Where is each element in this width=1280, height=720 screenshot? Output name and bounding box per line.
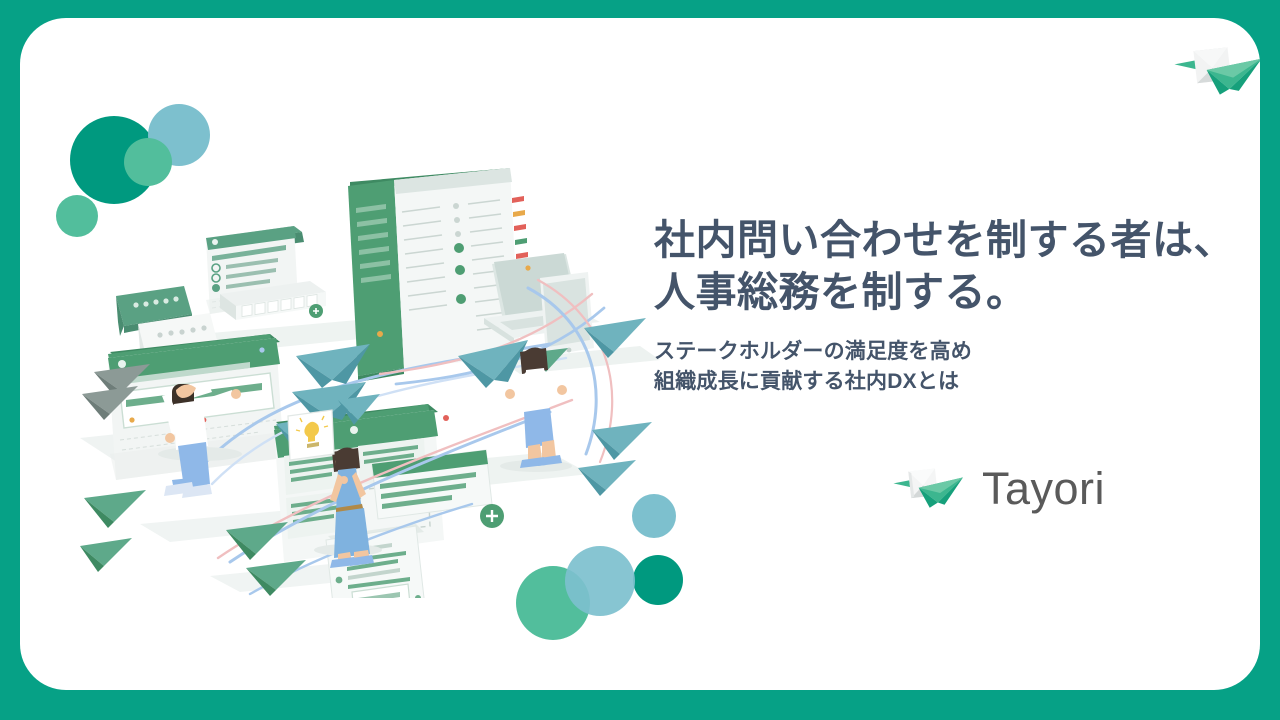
isometric-internal-inquiry-illustration: 社内問い合わせのイラスト — [80, 168, 660, 598]
tayori-logo-lockup: Tayori — [892, 461, 1105, 516]
tayori-wordmark: Tayori — [982, 466, 1105, 511]
page-title: 社内問い合わせを制する者は、 人事総務を制する。 — [654, 214, 1254, 319]
idea-card — [288, 410, 334, 460]
page-subtitle: ステークホルダーの満足度を高め 組織成長に貢献する社内DXとは — [654, 337, 1254, 397]
slide-root: 社内問い合わせのイラスト — [0, 0, 1280, 720]
tayori-corner-logo-icon — [1170, 36, 1260, 106]
text-column: 社内問い合わせを制する者は、 人事総務を制する。 ステークホルダーの満足度を高め… — [654, 214, 1254, 397]
slide-card: 社内問い合わせのイラスト — [20, 18, 1260, 690]
tayori-envelope-plane-icon — [892, 461, 966, 516]
